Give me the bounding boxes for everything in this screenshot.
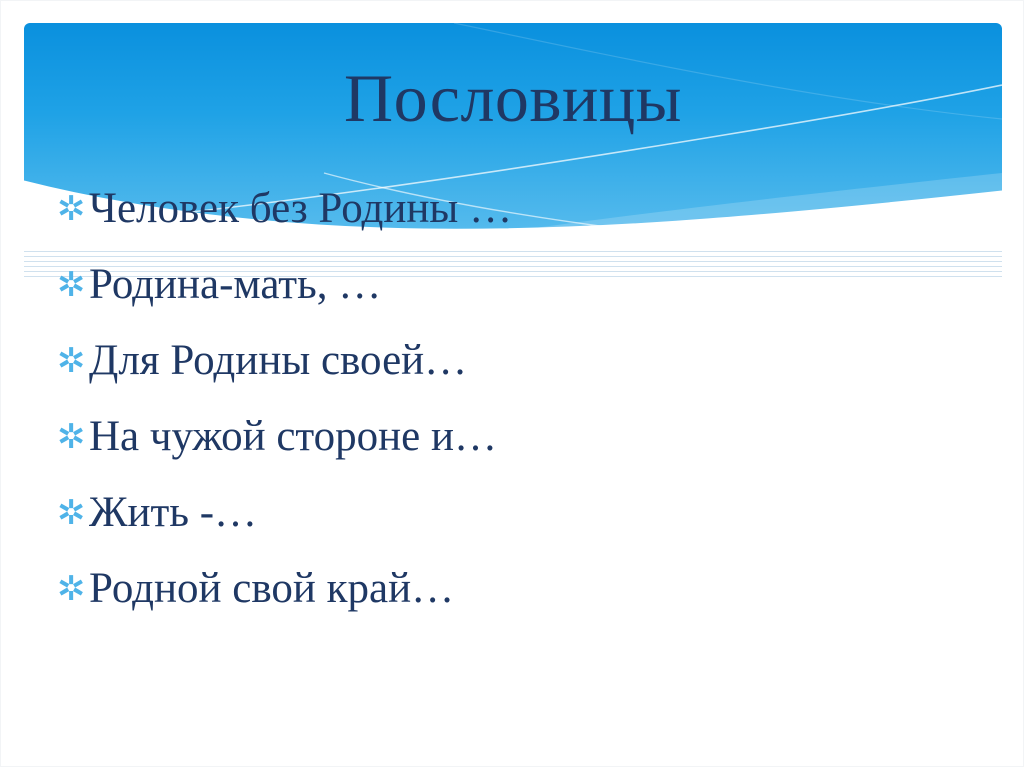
list-item-label: Родина-мать, …: [89, 263, 987, 306]
list-item-label: Родной свой край…: [89, 567, 987, 610]
list-item-label: Человек без Родины …: [89, 187, 987, 230]
asterisk-bullet-icon: ✲: [57, 192, 89, 226]
slide: Пословицы ✲ Человек без Родины … ✲ Родин…: [0, 0, 1024, 767]
proverb-list: ✲ Человек без Родины … ✲ Родина-мать, … …: [57, 187, 987, 643]
list-item: ✲ На чужой стороне и…: [57, 415, 987, 491]
asterisk-bullet-icon: ✲: [57, 420, 89, 454]
list-item: ✲ Для Родины своей…: [57, 339, 987, 415]
list-item: ✲ Человек без Родины …: [57, 187, 987, 263]
list-item: ✲ Жить -…: [57, 491, 987, 567]
list-item: ✲ Родина-мать, …: [57, 263, 987, 339]
list-item-label: Жить -…: [89, 491, 987, 534]
asterisk-bullet-icon: ✲: [57, 496, 89, 530]
list-item: ✲ Родной свой край…: [57, 567, 987, 643]
slide-title: Пословицы: [24, 63, 1002, 134]
list-item-label: Для Родины своей…: [89, 339, 987, 382]
asterisk-bullet-icon: ✲: [57, 344, 89, 378]
asterisk-bullet-icon: ✲: [57, 572, 89, 606]
list-item-label: На чужой стороне и…: [89, 415, 987, 458]
asterisk-bullet-icon: ✲: [57, 268, 89, 302]
